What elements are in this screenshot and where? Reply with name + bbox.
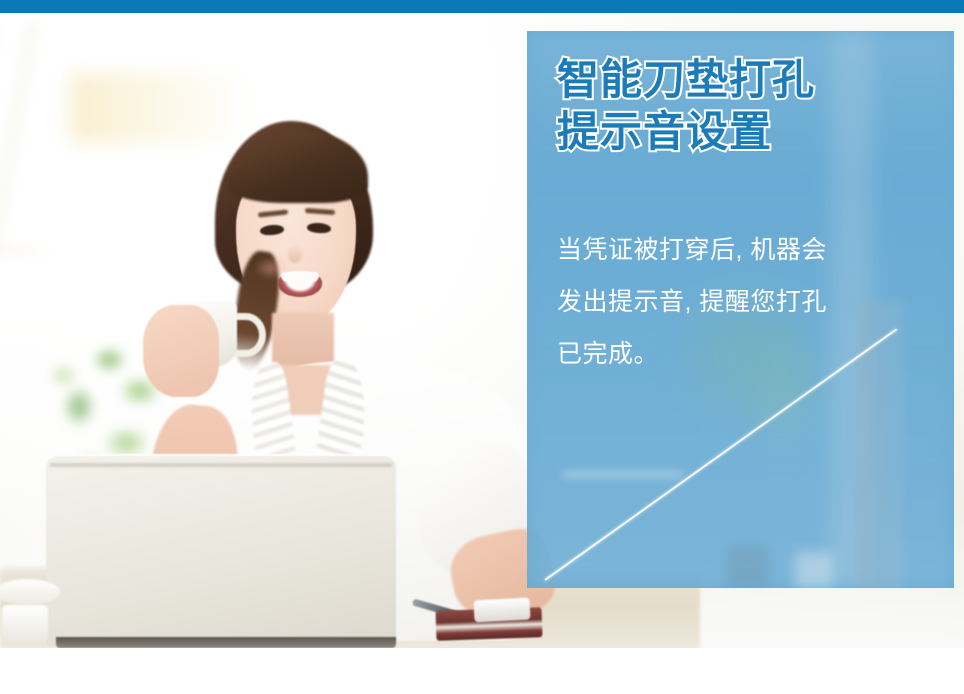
panel-plant-pot-a <box>727 546 769 588</box>
panel-plant-pot-b <box>795 552 833 588</box>
panel-heading: 智能刀垫打孔 提示音设置 <box>557 54 815 158</box>
banner-canvas: 智能刀垫打孔 提示音设置 当凭证被打穿后, 机器会 发出提示音, 提醒您打孔 已… <box>0 0 964 694</box>
panel-shelf-blur <box>563 471 683 478</box>
bottom-white-strip <box>0 648 964 694</box>
top-accent-bar <box>0 0 964 13</box>
laptop-hinge <box>50 463 392 467</box>
warm-light-blur <box>70 73 240 143</box>
laptop-lid <box>46 454 396 646</box>
white-bowl <box>2 605 48 645</box>
mobile-phone <box>473 598 530 623</box>
text-panel: 智能刀垫打孔 提示音设置 当凭证被打穿后, 机器会 发出提示音, 提醒您打孔 已… <box>527 31 954 588</box>
panel-body-text: 当凭证被打穿后, 机器会 发出提示音, 提醒您打孔 已完成。 <box>557 224 927 380</box>
laptop-base <box>56 637 396 648</box>
woman-teeth <box>281 272 319 282</box>
woman-hand <box>143 305 219 397</box>
woman-nose <box>288 245 302 263</box>
